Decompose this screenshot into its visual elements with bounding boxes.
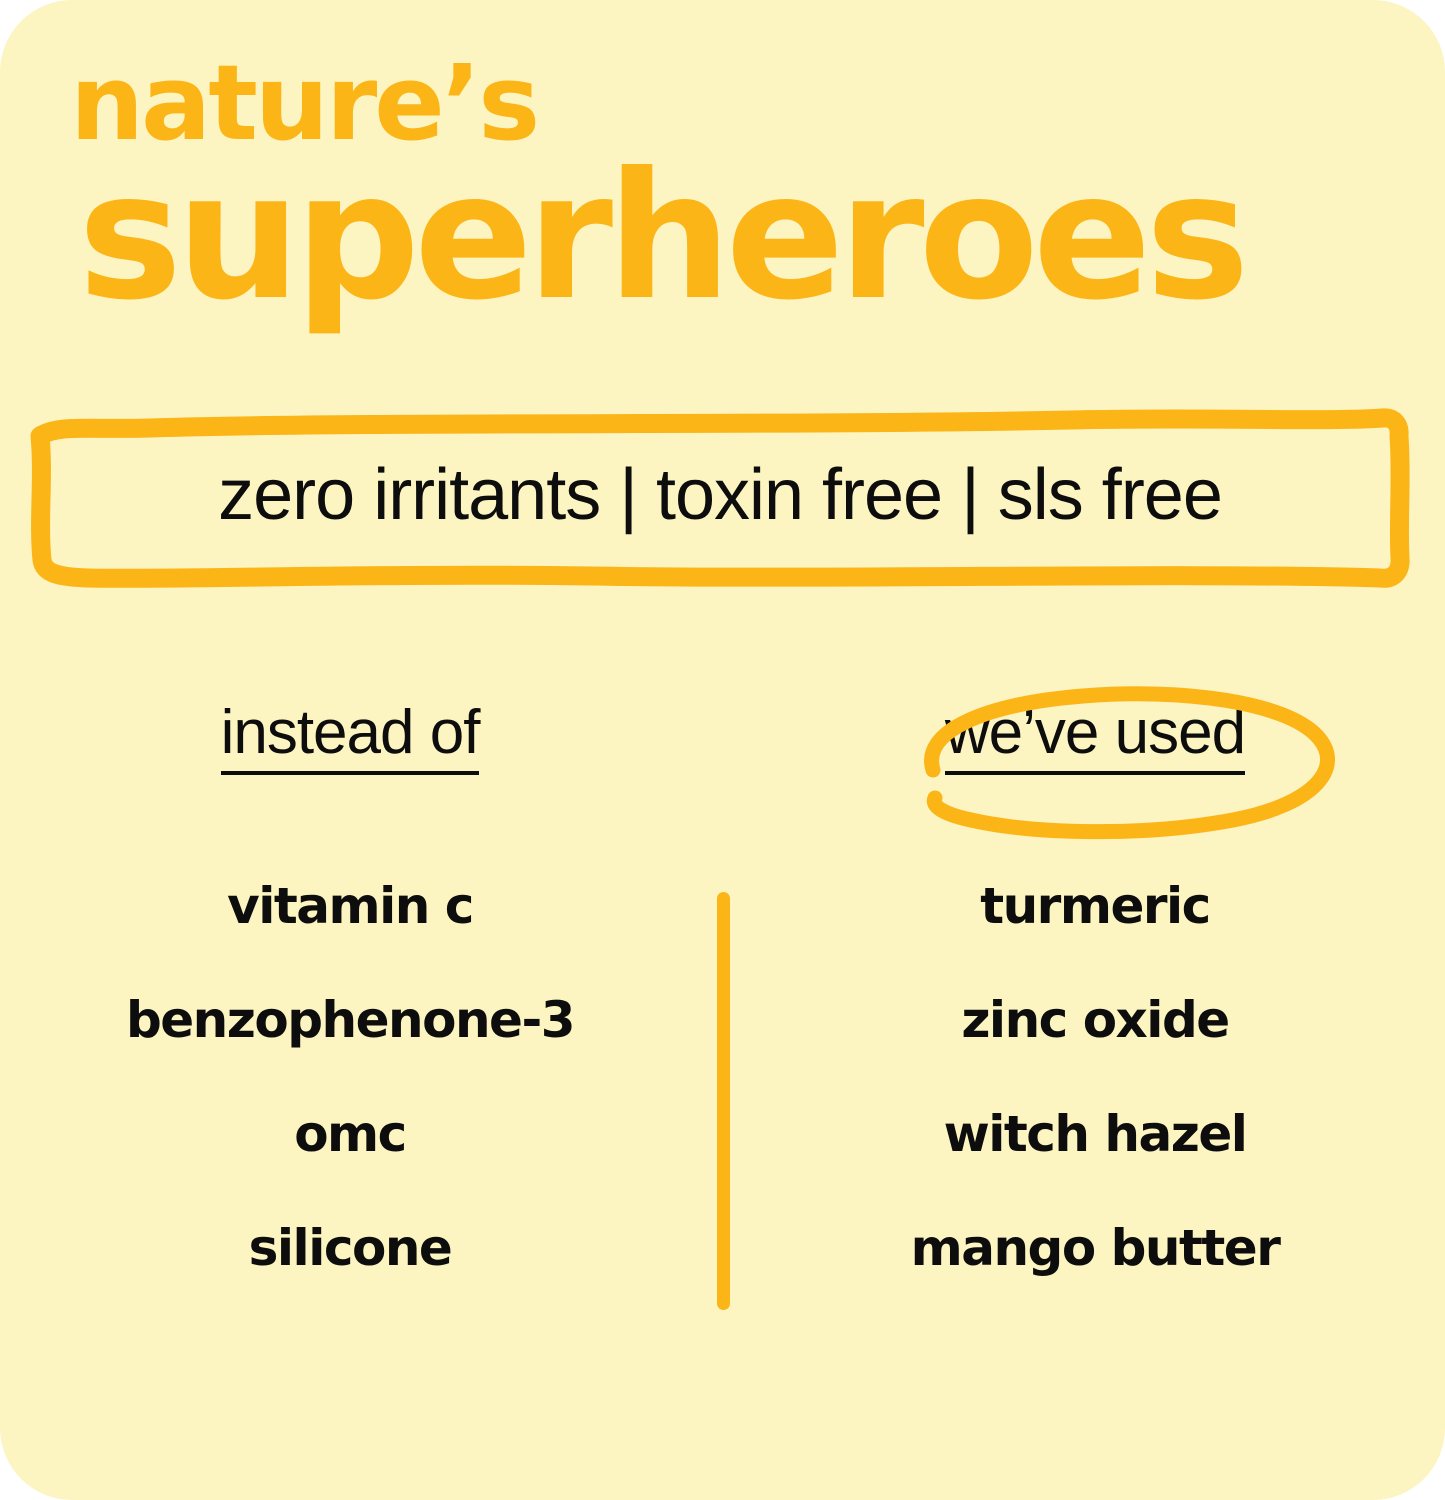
poster-canvas: nature’s superheroes zero irritants | to… — [0, 0, 1445, 1500]
instead-of-heading: instead of — [221, 700, 480, 775]
list-item: benzophenone-3 — [20, 963, 680, 1077]
list-item: silicone — [20, 1191, 680, 1305]
list-item: turmeric — [765, 849, 1425, 963]
list-item: omc — [20, 1077, 680, 1191]
weve-used-list: turmeric zinc oxide witch hazel mango bu… — [765, 849, 1425, 1305]
list-item: vitamin c — [20, 849, 680, 963]
weve-used-heading: we’ve used — [945, 700, 1245, 775]
tagline-text: zero irritants | toxin free | sls free — [30, 408, 1410, 588]
list-item: zinc oxide — [765, 963, 1425, 1077]
weve-used-heading-wrap: we’ve used — [945, 700, 1245, 775]
column-divider — [717, 892, 730, 1310]
comparison-section: instead of vitamin c benzophenone-3 omc … — [0, 700, 1445, 1380]
instead-of-list: vitamin c benzophenone-3 omc silicone — [20, 849, 680, 1305]
instead-of-heading-wrap: instead of — [221, 700, 480, 775]
headline-block: nature’s superheroes — [70, 54, 1400, 316]
column-instead-of: instead of vitamin c benzophenone-3 omc … — [20, 700, 680, 1305]
headline-line-2: superheroes — [78, 159, 1400, 317]
list-item: witch hazel — [765, 1077, 1425, 1191]
column-weve-used: we’ve used turmeric zinc oxide witch haz… — [765, 700, 1425, 1305]
list-item: mango butter — [765, 1191, 1425, 1305]
tagline-box: zero irritants | toxin free | sls free — [30, 408, 1410, 588]
